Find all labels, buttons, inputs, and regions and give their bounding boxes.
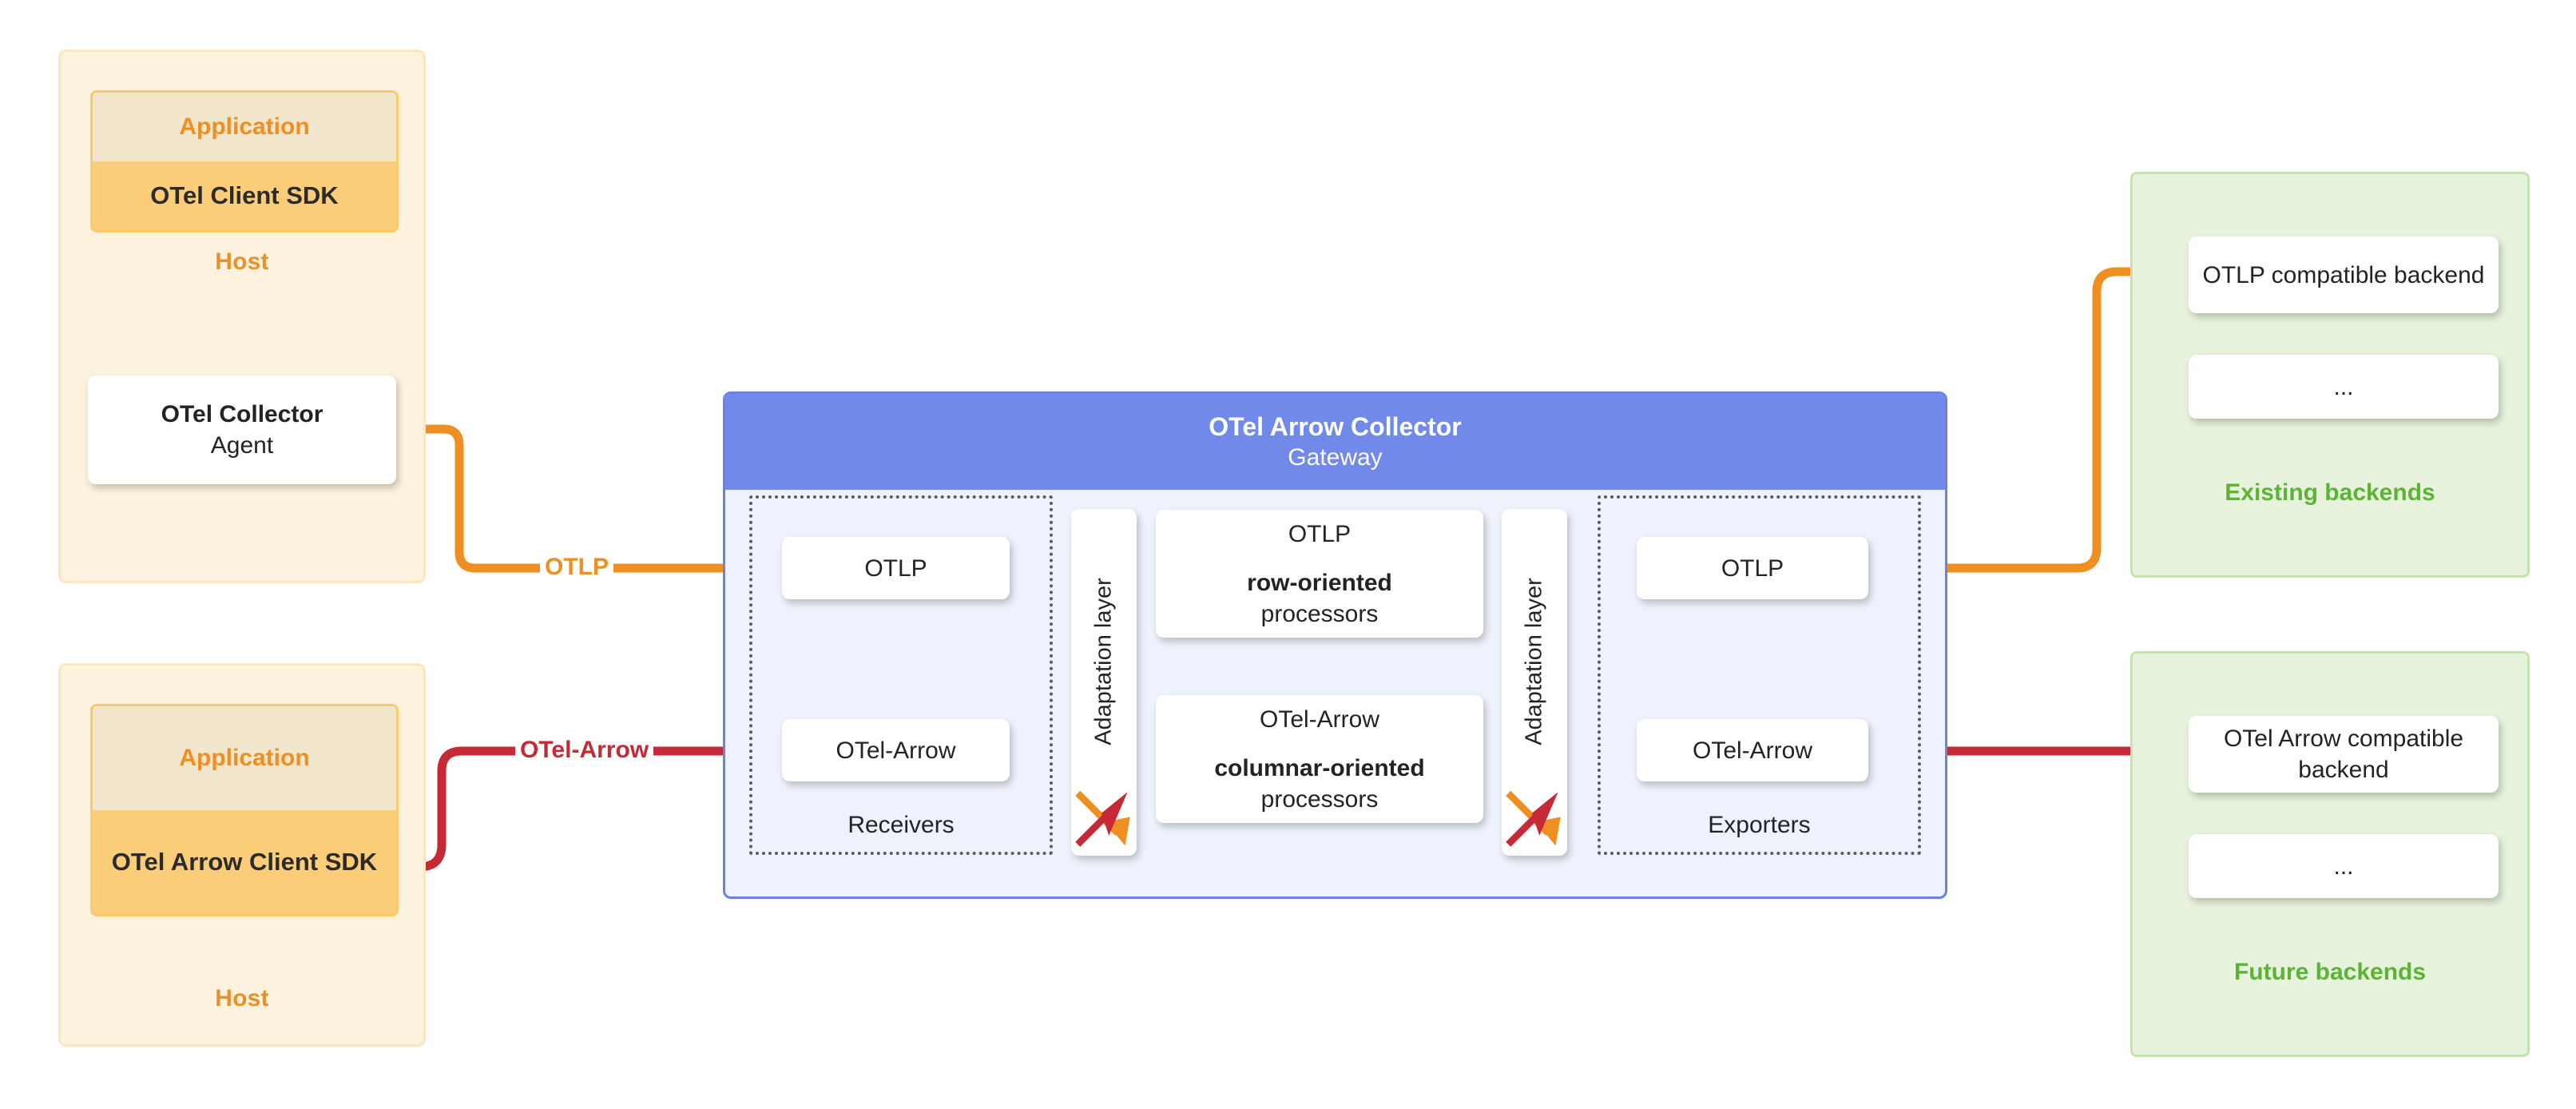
otel-client-sdk-label-1: OTel Client SDK — [93, 161, 396, 230]
adaptation-layer-1-label: Adaptation layer — [1091, 578, 1117, 745]
exporters-label: Exporters — [1601, 812, 1918, 839]
otel-collector-agent-subtitle: Agent — [211, 430, 273, 461]
adaptation-layer-1[interactable]: Adaptation layer — [1071, 509, 1137, 856]
receiver-otlp-card[interactable]: OTLP — [782, 537, 1010, 599]
application-label-1: Application — [93, 93, 396, 161]
processor-row-oriented-suffix: processors — [1261, 598, 1379, 630]
processor-otel-arrow-protocol-label: OTel-Arrow — [1260, 704, 1379, 735]
processor-columnar-oriented-kind: columnar-oriented — [1214, 753, 1424, 784]
otel-arrow-client-sdk-label-2: OTel Arrow Client SDK — [93, 810, 396, 914]
flow-label-otlp: OTLP — [540, 554, 613, 581]
receiver-otel-arrow-card[interactable]: OTel-Arrow — [782, 719, 1010, 781]
receiver-otlp-label: OTLP — [864, 553, 927, 584]
existing-backend-otlp-card[interactable]: OTLP compatible backend — [2189, 237, 2499, 313]
existing-backends-label: Existing backends — [2133, 479, 2527, 507]
application-label-2: Application — [93, 706, 396, 810]
future-backend-otel-arrow-card[interactable]: OTel Arrow compatible backend — [2189, 716, 2499, 793]
existing-backend-more-card[interactable]: ... — [2189, 355, 2499, 419]
exporter-otlp-label: OTLP — [1721, 553, 1784, 584]
collector-title: OTel Arrow Collector — [1209, 411, 1461, 443]
adaptation-layer-2-label: Adaptation layer — [1522, 578, 1548, 745]
processor-row-oriented-card[interactable]: OTLP row-oriented processors — [1156, 510, 1483, 638]
collector-header: OTel Arrow Collector Gateway — [725, 394, 1945, 490]
otel-collector-agent-card[interactable]: OTel Collector Agent — [88, 376, 396, 484]
host-panel-1: Application OTel Client SDK Host — [58, 50, 426, 583]
exporter-otlp-card[interactable]: OTLP — [1637, 537, 1868, 599]
host-label-2: Host — [61, 985, 423, 1012]
exporter-otel-arrow-label: OTel-Arrow — [1693, 735, 1812, 766]
receiver-otel-arrow-label: OTel-Arrow — [836, 735, 955, 766]
flow-otlp-agent-to-collector — [426, 429, 747, 568]
future-backends-label: Future backends — [2133, 959, 2527, 986]
existing-backend-otlp-label: OTLP compatible backend — [2203, 260, 2485, 291]
adaptation-layer-2[interactable]: Adaptation layer — [1502, 509, 1567, 856]
flow-otelarrow-sdk-to-collector — [392, 751, 747, 867]
processor-otlp-protocol-label: OTLP — [1288, 519, 1351, 550]
crossed-arrows-icon — [1073, 787, 1135, 849]
flow-label-otel-arrow: OTel-Arrow — [515, 737, 653, 764]
flow-otlp-collector-to-existing-backends — [1917, 272, 2165, 568]
future-backend-more-card[interactable]: ... — [2189, 834, 2499, 898]
application-stack-2: Application OTel Arrow Client SDK — [90, 704, 399, 916]
collector-subtitle: Gateway — [1288, 443, 1382, 473]
future-backend-more-label: ... — [2333, 851, 2353, 882]
crossed-arrows-icon — [1503, 787, 1566, 849]
otel-collector-agent-title: OTel Collector — [161, 399, 323, 430]
processor-columnar-oriented-card[interactable]: OTel-Arrow columnar-oriented processors — [1156, 695, 1483, 823]
existing-backend-more-label: ... — [2333, 372, 2353, 403]
diagram-canvas: Application OTel Client SDK Host OTel Co… — [0, 0, 2576, 1109]
host-label-1: Host — [61, 248, 423, 276]
application-stack-1: Application OTel Client SDK — [90, 90, 399, 233]
exporter-otel-arrow-card[interactable]: OTel-Arrow — [1637, 719, 1868, 781]
processor-columnar-oriented-suffix: processors — [1261, 784, 1379, 815]
receivers-label: Receivers — [752, 812, 1050, 839]
host-panel-2: Application OTel Arrow Client SDK Host — [58, 663, 426, 1047]
processor-row-oriented-kind: row-oriented — [1247, 567, 1392, 598]
future-backend-otel-arrow-label: OTel Arrow compatible backend — [2197, 723, 2491, 785]
